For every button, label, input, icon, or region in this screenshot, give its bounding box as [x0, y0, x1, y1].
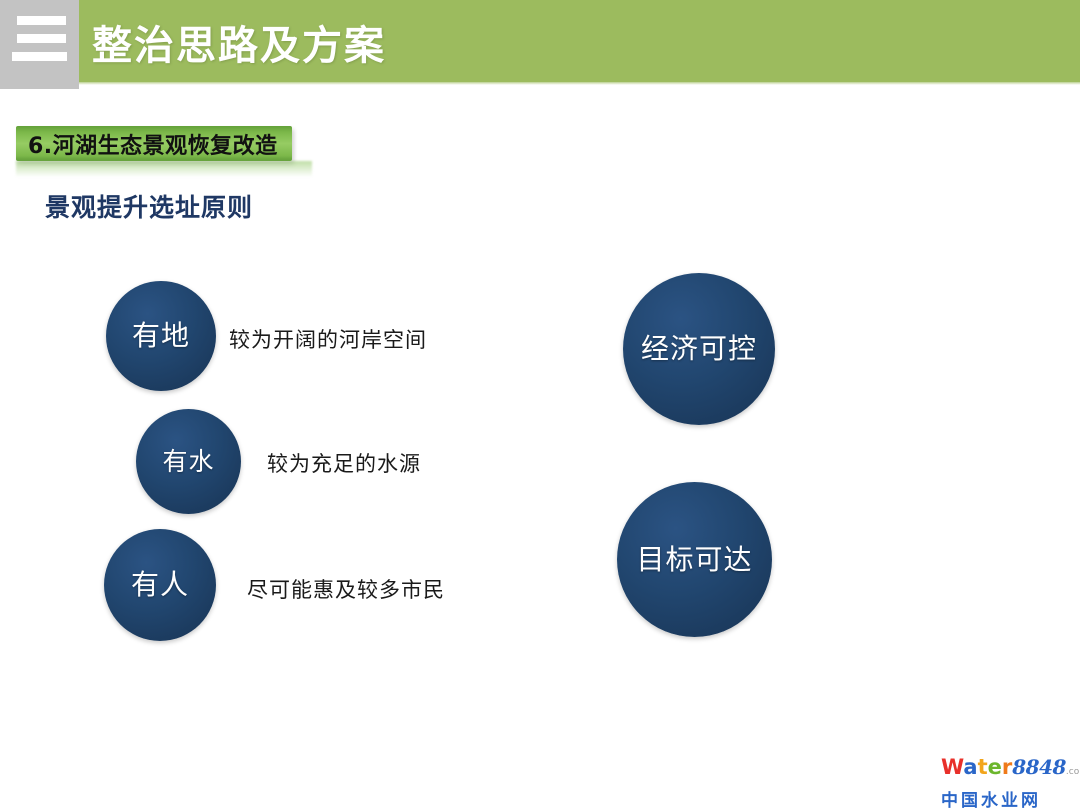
bubble-youshui-label: 有水 [162, 449, 214, 474]
watermark-letter-e: e [988, 755, 1002, 779]
bubble-jingjikekong: 经济可控 [623, 273, 775, 425]
header-menu-block[interactable] [0, 0, 79, 89]
bubble-youren: 有人 [104, 529, 216, 641]
bubble-youshui: 有水 [136, 409, 241, 514]
section-badge-label: 6.河湖生态景观恢复改造 [28, 128, 278, 160]
watermark-tld: .com [1066, 767, 1080, 777]
hamburger-icon [14, 16, 66, 61]
bubble-youdi: 有地 [106, 281, 216, 391]
watermark-letter-a: a [963, 755, 977, 779]
bubble-mubiaokeda-label: 目标可达 [636, 546, 752, 574]
bubble-youdi-label: 有地 [132, 322, 190, 350]
section-badge: 6.河湖生态景观恢复改造 [16, 126, 292, 161]
bubble-jingjikekong-label: 经济可控 [641, 335, 757, 363]
page-title: 整治思路及方案 [92, 13, 386, 71]
bubble-youren-description: 尽可能惠及较多市民 [247, 574, 445, 604]
section-subtitle: 景观提升选址原则 [45, 188, 253, 224]
bubble-youren-label: 有人 [131, 571, 189, 599]
header-band-edge [0, 82, 1080, 85]
watermark-letter-r: r [1002, 755, 1012, 779]
watermark-brand: Water8848.com [941, 756, 1071, 783]
bubble-youshui-description: 较为充足的水源 [267, 448, 421, 478]
bubble-youdi-description: 较为开阔的河岸空间 [229, 324, 427, 354]
watermark-number: 8848 [1012, 755, 1066, 779]
watermark-chinese: 中国水业网 [941, 786, 1071, 810]
bubble-mubiaokeda: 目标可达 [617, 482, 772, 637]
slide: 整治思路及方案 6.河湖生态景观恢复改造 景观提升选址原则 有地 较为开阔的河岸… [0, 0, 1080, 810]
watermark-logo: Water8848.com 中国水业网 [941, 756, 1071, 806]
watermark-letter-t: t [978, 755, 988, 779]
watermark-letter-w: W [941, 755, 963, 779]
section-badge-reflection [16, 161, 312, 177]
